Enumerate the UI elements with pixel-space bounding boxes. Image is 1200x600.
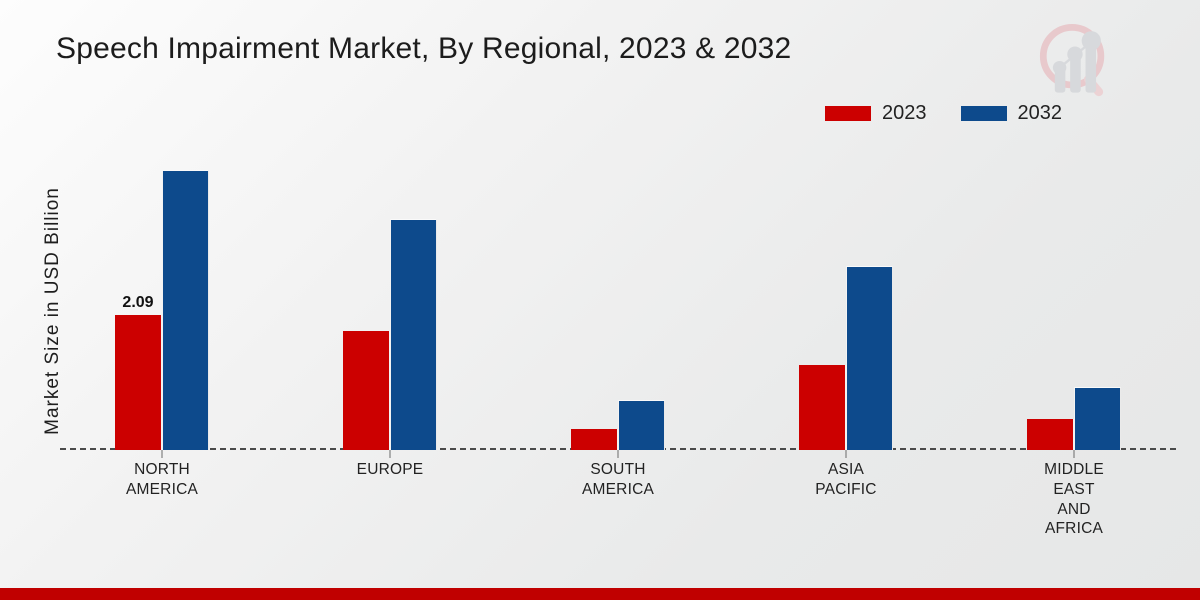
bar-2023-europe[interactable] xyxy=(343,331,390,450)
bar-group-south-america: SOUTH AMERICA xyxy=(504,140,732,450)
watermark-logo xyxy=(1026,12,1122,108)
x-axis-label-europe: EUROPE xyxy=(357,460,424,480)
chart-title: Speech Impairment Market, By Regional, 2… xyxy=(56,32,791,66)
bars-europe xyxy=(343,140,437,450)
bar-chart-icon xyxy=(1055,43,1096,93)
trend-dots-icon xyxy=(1053,31,1101,74)
bar-2032-south-america[interactable] xyxy=(618,400,665,450)
bar-2032-north-america[interactable] xyxy=(162,170,209,450)
bar-2032-europe[interactable] xyxy=(390,219,437,450)
chart-legend: 2023 2032 xyxy=(825,103,1062,123)
bottom-accent-bar xyxy=(0,588,1200,600)
bar-group-middle-east-and-africa: MIDDLE EAST AND AFRICA xyxy=(960,140,1188,450)
bar-2032-middle-east-and-africa[interactable] xyxy=(1074,387,1121,450)
x-tick-asia-pacific xyxy=(846,450,847,458)
x-tick-middle-east-and-africa xyxy=(1074,450,1075,458)
bar-2032-asia-pacific[interactable] xyxy=(846,266,893,450)
bar-2023-north-america[interactable]: 2.09 xyxy=(115,315,162,450)
plot-area: 2.09 NORTH AMERICA EUROPE xyxy=(48,140,1188,450)
bar-2023-asia-pacific[interactable] xyxy=(799,365,846,450)
legend-label-2032: 2032 xyxy=(1018,103,1063,123)
legend-label-2023: 2023 xyxy=(882,103,927,123)
bars-north-america: 2.09 xyxy=(115,140,209,450)
legend-item-2032[interactable]: 2032 xyxy=(961,103,1063,123)
bars-south-america xyxy=(571,140,665,450)
x-axis-label-north-america: NORTH AMERICA xyxy=(126,460,198,500)
bar-2023-middle-east-and-africa[interactable] xyxy=(1027,419,1074,450)
legend-swatch-2023 xyxy=(825,106,871,121)
legend-swatch-2032 xyxy=(961,106,1007,121)
x-axis-label-middle-east-and-africa: MIDDLE EAST AND AFRICA xyxy=(1044,460,1104,539)
bar-group-north-america: 2.09 NORTH AMERICA xyxy=(48,140,276,450)
bar-value-label-2023-north-america: 2.09 xyxy=(122,294,153,312)
bar-group-europe: EUROPE xyxy=(276,140,504,450)
bars-middle-east-and-africa xyxy=(1027,140,1121,450)
x-tick-europe xyxy=(390,450,391,458)
bar-group-asia-pacific: ASIA PACIFIC xyxy=(732,140,960,450)
x-axis-label-asia-pacific: ASIA PACIFIC xyxy=(815,460,876,500)
magnifier-ring-icon xyxy=(1043,27,1105,98)
x-tick-south-america xyxy=(618,450,619,458)
x-tick-north-america xyxy=(162,450,163,458)
x-axis-label-south-america: SOUTH AMERICA xyxy=(582,460,654,500)
chart-container: Speech Impairment Market, By Regional, 2… xyxy=(0,0,1200,600)
bar-groups: 2.09 NORTH AMERICA EUROPE xyxy=(48,140,1188,450)
bars-asia-pacific xyxy=(799,140,893,450)
bar-2023-south-america[interactable] xyxy=(571,429,618,450)
legend-item-2023[interactable]: 2023 xyxy=(825,103,927,123)
